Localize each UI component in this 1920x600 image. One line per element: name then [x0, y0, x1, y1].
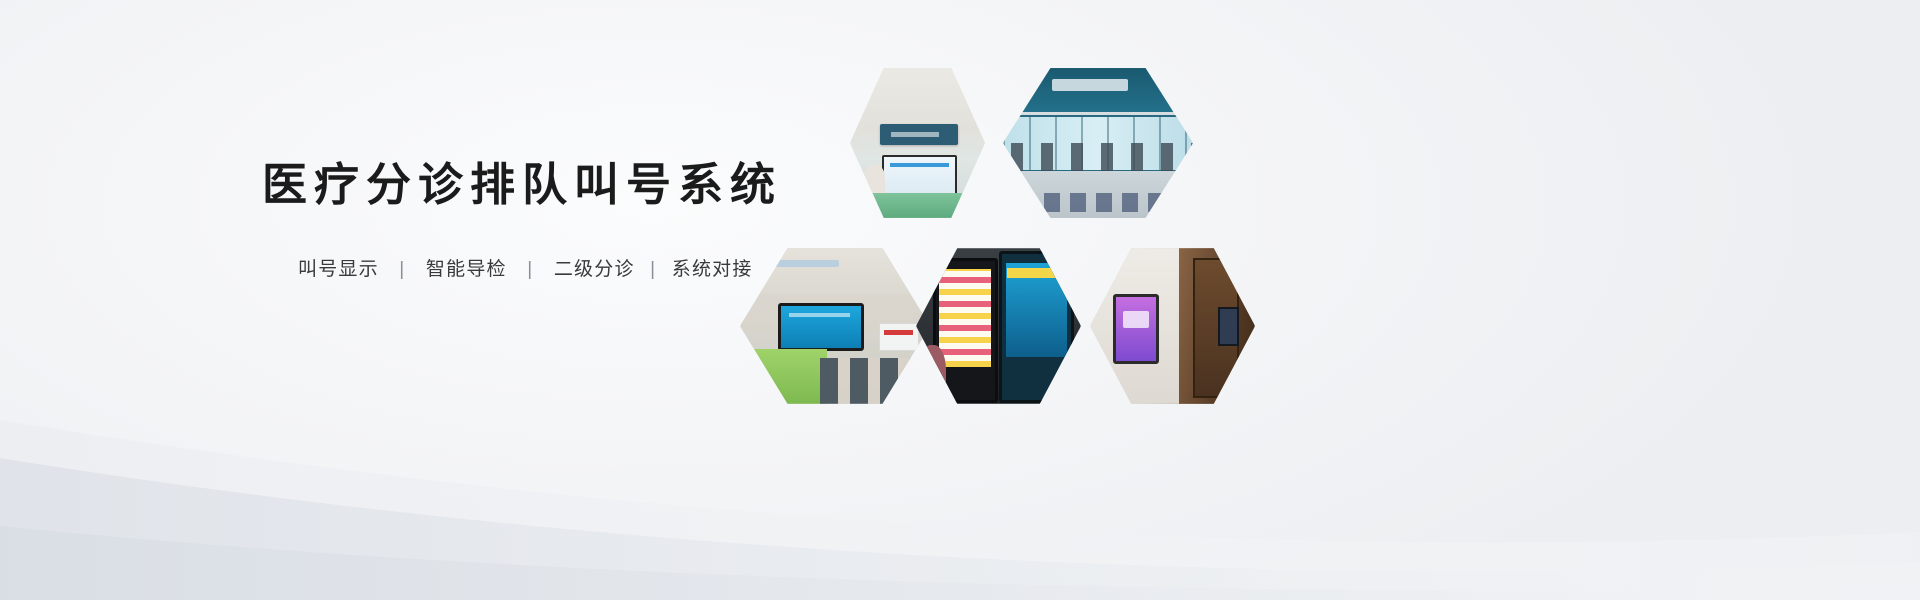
banner-root: 医疗分诊排队叫号系统 叫号显示 | 智能导检 | 二级分诊 | 系统对接	[0, 0, 1920, 600]
hex-photo-4	[916, 245, 1081, 407]
feature-separator: |	[399, 259, 405, 280]
hex-photo-3	[740, 245, 930, 407]
hex-photo-5	[1090, 245, 1255, 407]
feature-item-0: 叫号显示	[298, 259, 379, 280]
photo-self-service-kiosks	[916, 245, 1081, 407]
hexagon-photo-gallery	[735, 55, 1275, 405]
photo-pharmacy-window	[1003, 65, 1193, 221]
hex-photo-2	[1003, 65, 1193, 221]
feature-item-2: 二级分诊	[554, 259, 635, 280]
hex-photo-1	[850, 65, 985, 221]
feature-separator: |	[527, 259, 533, 280]
feature-item-1: 智能导检	[426, 259, 507, 280]
photo-clinic-door-display	[1090, 245, 1255, 407]
photo-triage-counter	[740, 245, 930, 407]
feature-separator: |	[650, 259, 656, 280]
photo-pediatric-guidance-desk	[850, 65, 985, 221]
